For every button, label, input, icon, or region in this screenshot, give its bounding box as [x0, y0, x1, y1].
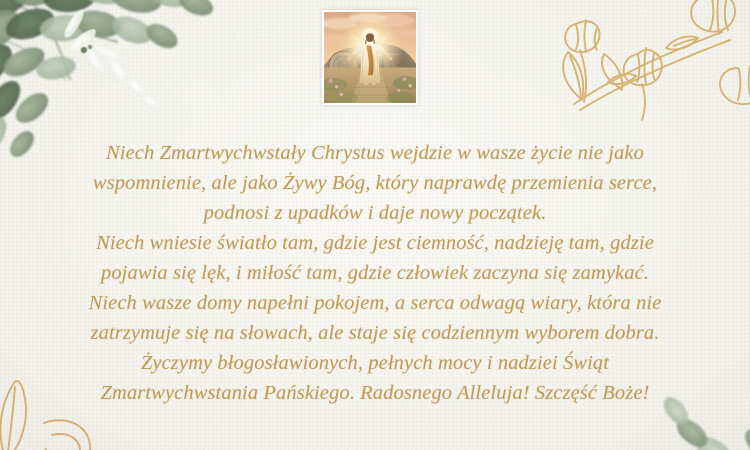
message-line: podnosi z upadków i daje nowy początek. — [0, 198, 750, 228]
resurrection-illustration-icon — [324, 12, 416, 103]
message-line: zatrzymuje się na słowach, ale staje się… — [0, 318, 750, 348]
message-line: Życzymy błogosławionych, pełnych mocy i … — [0, 348, 750, 378]
easter-greeting-card: Niech Zmartwychwstały Chrystus wejdzie w… — [0, 0, 750, 450]
message-line: wspomnienie, ale jako Żywy Bóg, który na… — [0, 168, 750, 198]
greeting-message: Niech Zmartwychwstały Chrystus wejdzie w… — [0, 138, 750, 408]
gold-tulip-branch-top-right-icon — [546, 0, 750, 122]
message-line: Niech Zmartwychwstały Chrystus wejdzie w… — [0, 138, 750, 168]
message-line: Niech wniesie światło tam, gdzie jest ci… — [0, 228, 750, 258]
resurrection-image — [322, 10, 418, 105]
message-line: Niech wasze domy napełni pokojem, a serc… — [0, 288, 750, 318]
message-line: Zmartwychwstania Pańskiego. Radosnego Al… — [0, 378, 750, 408]
message-line: pojawia się lęk, i miłość tam, gdzie czł… — [0, 258, 750, 288]
